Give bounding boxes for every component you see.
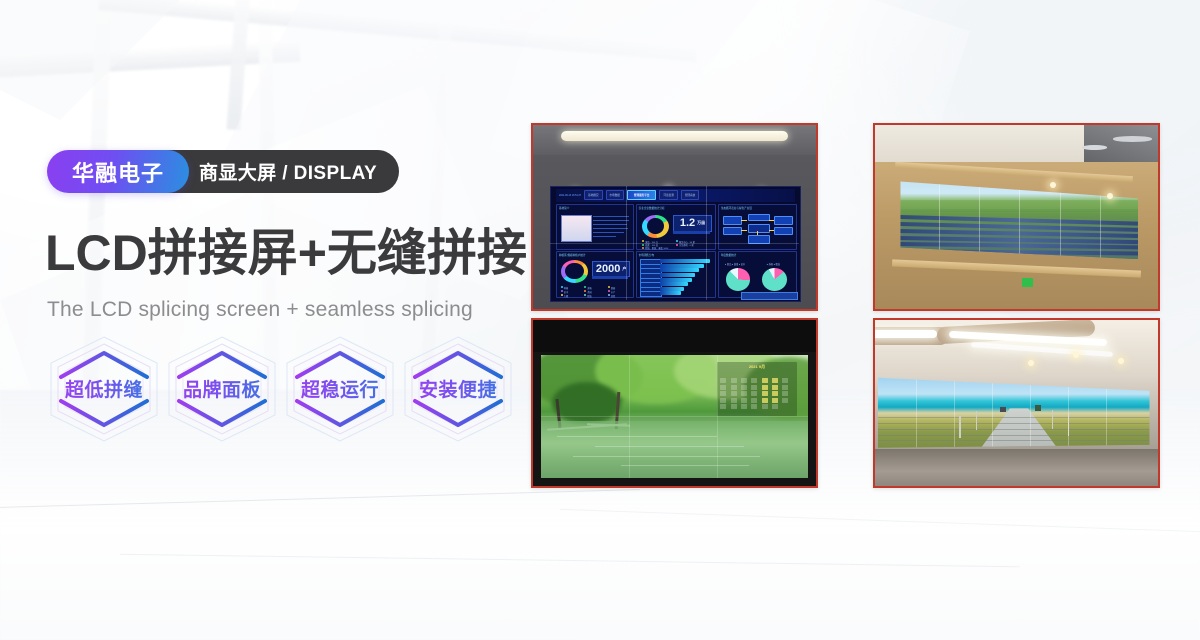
brand-tag-bar: 华融电子 商显大屏 / DISPLAY xyxy=(47,150,399,193)
feature-badge-1[interactable]: 超低拼缝 xyxy=(45,333,163,445)
photo-willow-lake-video-wall[interactable]: 2021 9月 xyxy=(531,318,818,488)
panel-title: 年度数据统计 xyxy=(721,253,737,257)
feature-badge-2[interactable]: 品牌面板 xyxy=(163,333,281,445)
dashboard-tab-0[interactable]: 基地概况 xyxy=(584,190,602,200)
dashboard-tab-1[interactable]: 市场数据 xyxy=(606,190,624,200)
growers-value: 2000 户 xyxy=(592,261,630,278)
panel-title: 市场销售分布 xyxy=(639,253,655,257)
left-content-column: 华融电子 商显大屏 / DISPLAY LCD拼接屏+无缝拼接 The LCD … xyxy=(0,0,520,640)
dashboard-panel-bar: 市场销售分布 xyxy=(636,251,716,299)
feature-badge-3[interactable]: 超稳运行 xyxy=(281,333,399,445)
panel-title: 农业企业数据统计分析 xyxy=(639,206,665,210)
feature-badge-row: 超低拼缝 品牌面板 xyxy=(45,333,525,451)
promo-banner: 华融电子 商显大屏 / DISPLAY LCD拼接屏+无缝拼接 The LCD … xyxy=(0,0,1200,640)
photo-boardwalk-video-wall[interactable] xyxy=(873,318,1160,488)
feature-badge-2-label: 品牌面板 xyxy=(163,375,281,402)
metric-value-unit: 万亩 xyxy=(697,220,705,226)
panel-title: 种植区/规模种植户统计 xyxy=(559,253,586,257)
dashboard-header: 2021-09-13 16:51:27 基地概况 市场数据 管理服务平台 环境监… xyxy=(556,189,795,202)
calendar-overlay: 2021 9月 xyxy=(717,362,797,416)
photo-solar-farm-video-wall[interactable] xyxy=(873,123,1160,311)
growers-value-number: 2000 xyxy=(596,263,620,275)
pie-chart-right xyxy=(762,268,787,291)
dashboard-panel-growers: 种植区/规模种植户统计 2000 户 种植 养殖 果园 苗木 茶园 水 xyxy=(556,251,634,299)
dashboard-tab-3[interactable]: 环境监测 xyxy=(659,190,677,200)
dashboard-tab-4[interactable]: 管理系统 xyxy=(681,190,699,200)
dashboard-timestamp: 2021-09-13 16:51:27 xyxy=(559,194,581,197)
dashboard-screen: 2021-09-13 16:51:27 基地概况 市场数据 管理服务平台 环境监… xyxy=(550,186,801,302)
metric-value-number: 1.2 xyxy=(680,217,695,229)
product-photo-grid: 2021-09-13 16:51:27 基地概况 市场数据 管理服务平台 环境监… xyxy=(531,123,1160,488)
page-title: LCD拼接屏+无缝拼接 xyxy=(45,228,527,278)
category-chip-label: 商显大屏 / DISPLAY xyxy=(199,158,377,185)
feature-badge-4[interactable]: 安装便捷 xyxy=(399,333,517,445)
feature-badge-3-label: 超稳运行 xyxy=(281,375,399,402)
panel-title: 生态循环农业与绿色产业链 xyxy=(721,206,752,210)
pie-chart-left xyxy=(726,268,751,291)
brand-chip-label: 华融电子 xyxy=(72,156,164,188)
feature-badge-4-label: 安装便捷 xyxy=(399,375,517,402)
calendar-title: 2021 9月 xyxy=(717,364,797,370)
photo-dashboard-video-wall[interactable]: 2021-09-13 16:51:27 基地概况 市场数据 管理服务平台 环境监… xyxy=(531,123,818,311)
page-subtitle: The LCD splicing screen + seamless splic… xyxy=(47,298,473,322)
brand-chip[interactable]: 华融电子 xyxy=(47,150,189,193)
dashboard-tab-2[interactable]: 管理服务平台 xyxy=(627,190,657,200)
panel-title: 基地简介 xyxy=(559,206,569,210)
willow-lake-screen: 2021 9月 xyxy=(541,355,807,478)
feature-badge-1-label: 超低拼缝 xyxy=(45,375,163,402)
